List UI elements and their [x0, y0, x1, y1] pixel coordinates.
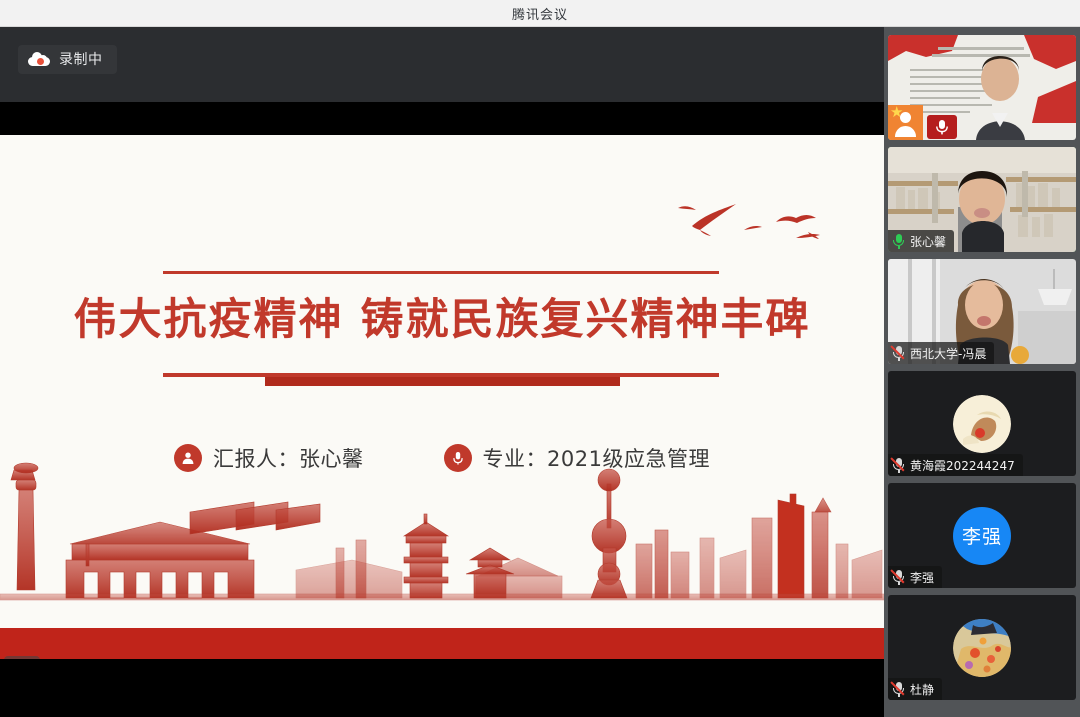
participant-tile[interactable]: ★ [888, 35, 1076, 140]
participant-name-bar: 杜静 [888, 678, 942, 700]
participant-name: 杜静 [910, 681, 934, 698]
participant-name-bar: 黄海霞202244247 [888, 454, 1023, 476]
participant-name-bar: 李强 [888, 566, 942, 588]
avatar-photo [953, 619, 1011, 677]
slide-title: 伟大抗疫精神 铸就民族复兴精神丰碑 [0, 295, 884, 346]
title-rule-accent [265, 377, 620, 386]
participant-tile[interactable]: 张心馨 [888, 147, 1076, 252]
avatar-photo [953, 395, 1011, 453]
mic-muted-icon [893, 570, 905, 585]
mic-muted-icon [893, 682, 905, 697]
app-title-bar: 腾讯会议 [0, 0, 1080, 27]
slide-bottom-red-bar [0, 628, 884, 659]
mic-on-icon [893, 234, 905, 249]
app-title: 腾讯会议 [512, 4, 568, 23]
letterbox-top [0, 102, 884, 135]
recording-indicator: 录制中 [18, 45, 117, 74]
stage-top-band [0, 27, 884, 102]
mic-muted-icon [893, 346, 905, 361]
participant-tile[interactable]: 李强 李强 [888, 483, 1076, 588]
flag-avatar-badge: ★ [888, 105, 923, 140]
flying-birds-icon [670, 190, 860, 250]
participant-tile[interactable]: 西北大学-冯晨 [888, 259, 1076, 364]
title-rule-top [163, 271, 719, 274]
participant-tile[interactable]: 黄海霞202244247 [888, 371, 1076, 476]
participant-tile[interactable]: 杜静 [888, 595, 1076, 700]
participant-name: 李强 [910, 569, 934, 586]
china-landmarks-skyline [0, 448, 884, 628]
participant-name-bar: 张心馨 [888, 230, 954, 252]
mic-muted-icon [893, 458, 905, 473]
letterbox-bottom [0, 659, 884, 717]
avatar-initials: 李强 [962, 522, 1002, 549]
participant-name: 张心馨 [910, 233, 946, 250]
participant-name-bar [923, 118, 936, 140]
participant-name: 黄海霞202244247 [910, 457, 1015, 474]
participant-name: 西北大学-冯晨 [910, 345, 986, 362]
shared-screen-stage[interactable]: 录制中 伟大抗疫精神 铸就民族复兴精神丰碑 汇报人：张 [0, 27, 884, 717]
presentation-slide: 伟大抗疫精神 铸就民族复兴精神丰碑 汇报人：张心馨 专业：2021级应急管理 [0, 135, 884, 659]
recording-label: 录制中 [59, 49, 103, 69]
cloud-record-icon [28, 52, 50, 66]
participant-sidebar[interactable]: ★ [884, 27, 1080, 717]
participant-name-bar: 西北大学-冯晨 [888, 342, 994, 364]
